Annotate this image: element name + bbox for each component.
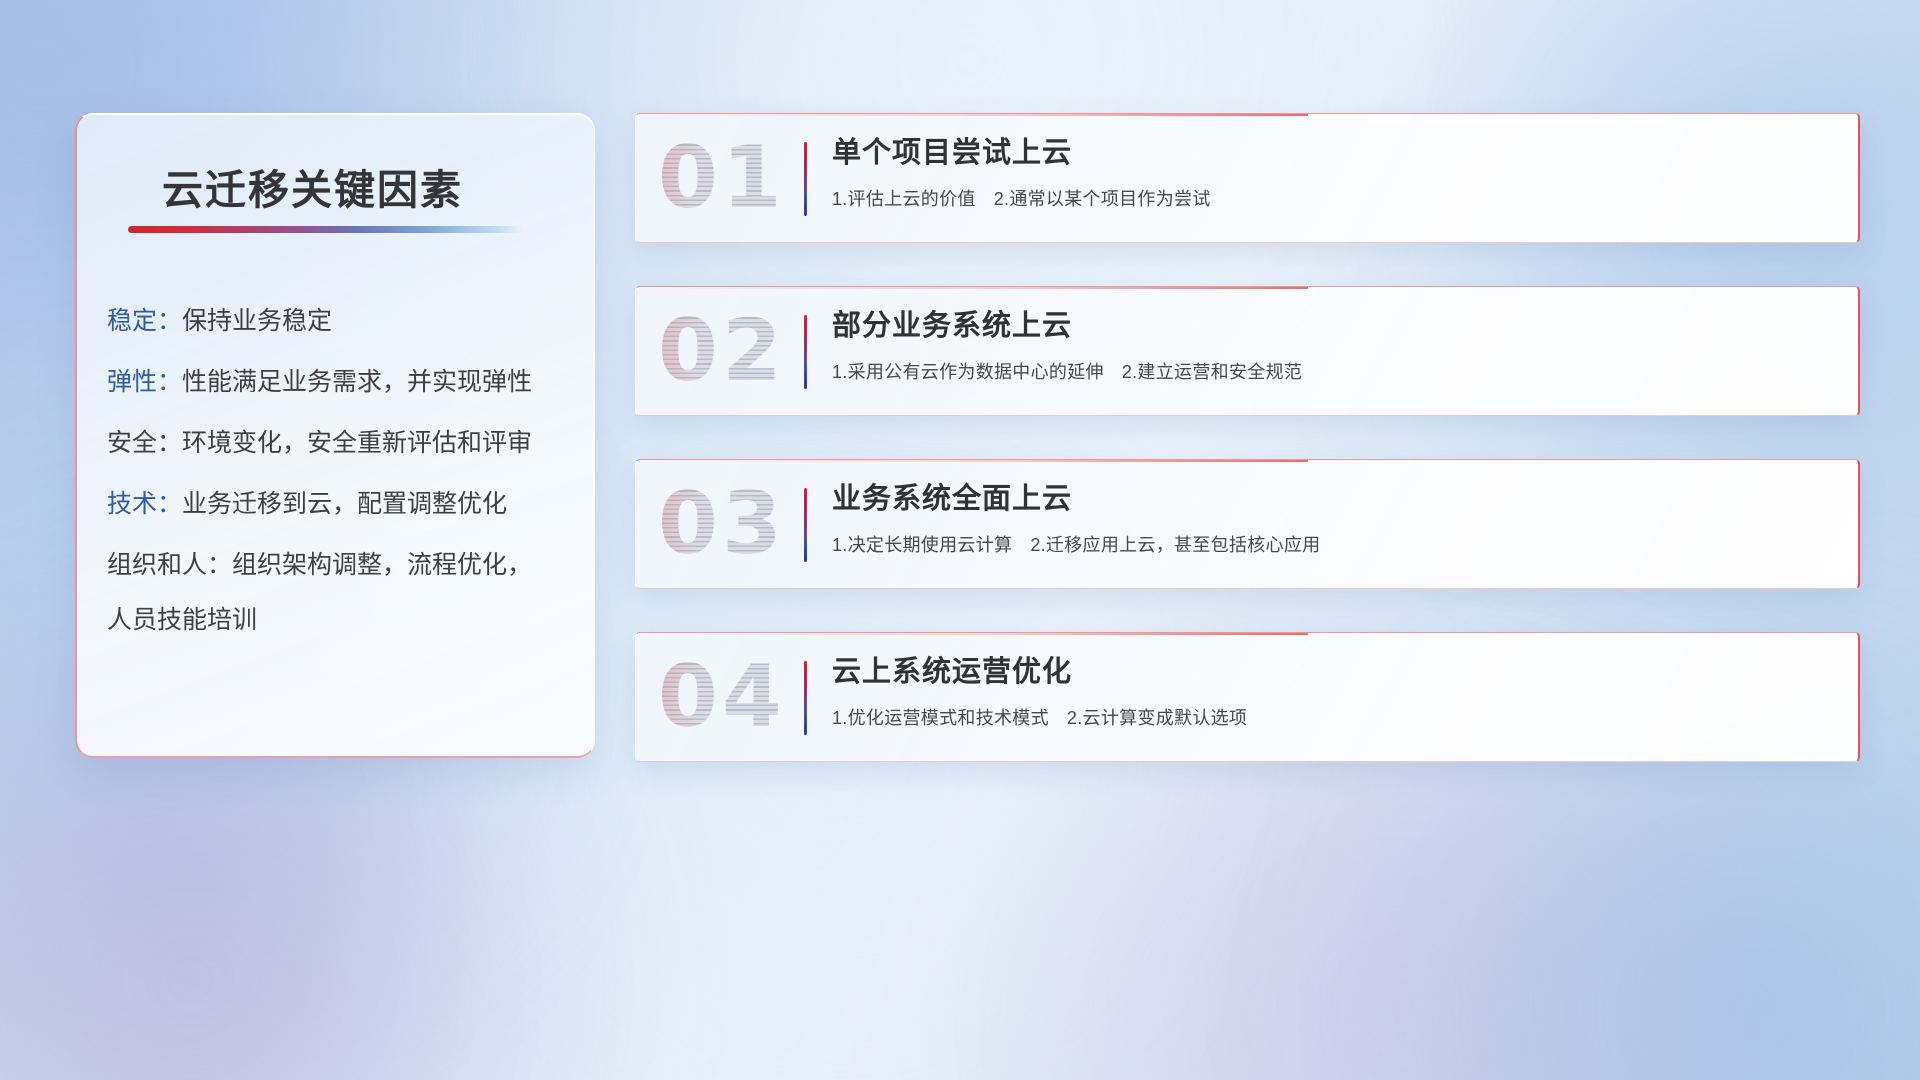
step-point-1: 1.决定长期使用云计算: [832, 535, 1012, 555]
step-number-ghost: 04: [658, 654, 786, 740]
step-point-2: 2.通常以某个项目作为尝试: [994, 189, 1211, 209]
step-title: 云上系统运营优化: [832, 655, 1838, 690]
step-number-ghost: 02: [658, 308, 786, 394]
step-number-ghost: 03: [658, 481, 786, 567]
step-title: 单个项目尝试上云: [832, 136, 1838, 171]
factor-text: 环境变化，安全重新评估和评审: [182, 431, 532, 456]
factor-text: 人员技能培训: [107, 608, 257, 633]
factor-text: 组织架构调整，流程优化，: [232, 553, 532, 578]
step-title: 业务系统全面上云: [832, 482, 1838, 517]
page-title: 云迁移关键因素: [162, 156, 463, 216]
step-divider-bar: [804, 661, 807, 735]
step-card-body: 业务系统全面上云1.决定长期使用云计算2.迁移应用上云，甚至包括核心应用: [832, 482, 1838, 557]
factor-item: 安全：环境变化，安全重新评估和评审: [107, 431, 572, 456]
step-number-ghost: 01: [658, 135, 786, 221]
factor-text: 性能满足业务需求，并实现弹性: [182, 370, 532, 395]
step-points: 1.优化运营模式和技术模式2.云计算变成默认选项: [832, 704, 1838, 730]
step-points: 1.采用公有云作为数据中心的延伸2.建立运营和安全规范: [832, 358, 1838, 384]
step-card[interactable]: 04云上系统运营优化1.优化运营模式和技术模式2.云计算变成默认选项: [635, 632, 1860, 762]
step-card-body: 单个项目尝试上云1.评估上云的价值2.通常以某个项目作为尝试: [832, 136, 1838, 211]
step-divider-bar: [804, 488, 807, 562]
factor-item: 组织和人：组织架构调整，流程优化，: [107, 553, 572, 578]
factor-label: 弹性：: [107, 370, 182, 395]
factor-item: 弹性：性能满足业务需求，并实现弹性: [107, 370, 572, 395]
step-point-1: 1.优化运营模式和技术模式: [832, 708, 1049, 728]
step-divider-bar: [804, 142, 807, 216]
step-title: 部分业务系统上云: [832, 309, 1838, 344]
factor-label: 技术：: [107, 492, 182, 517]
step-point-1: 1.采用公有云作为数据中心的延伸: [832, 362, 1104, 382]
factor-text: 业务迁移到云，配置调整优化: [182, 492, 507, 517]
factor-label: 组织和人：: [107, 553, 232, 578]
step-card[interactable]: 01单个项目尝试上云1.评估上云的价值2.通常以某个项目作为尝试: [635, 113, 1860, 243]
step-point-2: 2.建立运营和安全规范: [1122, 362, 1302, 382]
step-point-2: 2.迁移应用上云，甚至包括核心应用: [1030, 535, 1320, 555]
factor-item: 稳定：保持业务稳定: [107, 309, 572, 334]
factor-label: 稳定：: [107, 309, 182, 334]
step-card[interactable]: 03业务系统全面上云1.决定长期使用云计算2.迁移应用上云，甚至包括核心应用: [635, 459, 1860, 589]
step-card-body: 部分业务系统上云1.采用公有云作为数据中心的延伸2.建立运营和安全规范: [832, 309, 1838, 384]
slide-stage: 云迁移关键因素 稳定：保持业务稳定弹性：性能满足业务需求，并实现弹性安全：环境变…: [0, 0, 1920, 1080]
factor-label: 安全：: [107, 431, 182, 456]
step-points: 1.决定长期使用云计算2.迁移应用上云，甚至包括核心应用: [832, 531, 1838, 557]
factor-item: 人员技能培训: [107, 608, 572, 633]
factor-text: 保持业务稳定: [182, 309, 332, 334]
factor-item: 技术：业务迁移到云，配置调整优化: [107, 492, 572, 517]
step-card[interactable]: 02部分业务系统上云1.采用公有云作为数据中心的延伸2.建立运营和安全规范: [635, 286, 1860, 416]
key-factors-panel: 云迁移关键因素 稳定：保持业务稳定弹性：性能满足业务需求，并实现弹性安全：环境变…: [75, 113, 595, 758]
factor-list: 稳定：保持业务稳定弹性：性能满足业务需求，并实现弹性安全：环境变化，安全重新评估…: [107, 309, 572, 669]
step-divider-bar: [804, 315, 807, 389]
title-underline-rule: [128, 226, 523, 233]
step-card-body: 云上系统运营优化1.优化运营模式和技术模式2.云计算变成默认选项: [832, 655, 1838, 730]
step-card-list: 01单个项目尝试上云1.评估上云的价值2.通常以某个项目作为尝试02部分业务系统…: [635, 113, 1860, 805]
step-points: 1.评估上云的价值2.通常以某个项目作为尝试: [832, 185, 1838, 211]
step-point-2: 2.云计算变成默认选项: [1067, 708, 1247, 728]
step-point-1: 1.评估上云的价值: [832, 189, 976, 209]
